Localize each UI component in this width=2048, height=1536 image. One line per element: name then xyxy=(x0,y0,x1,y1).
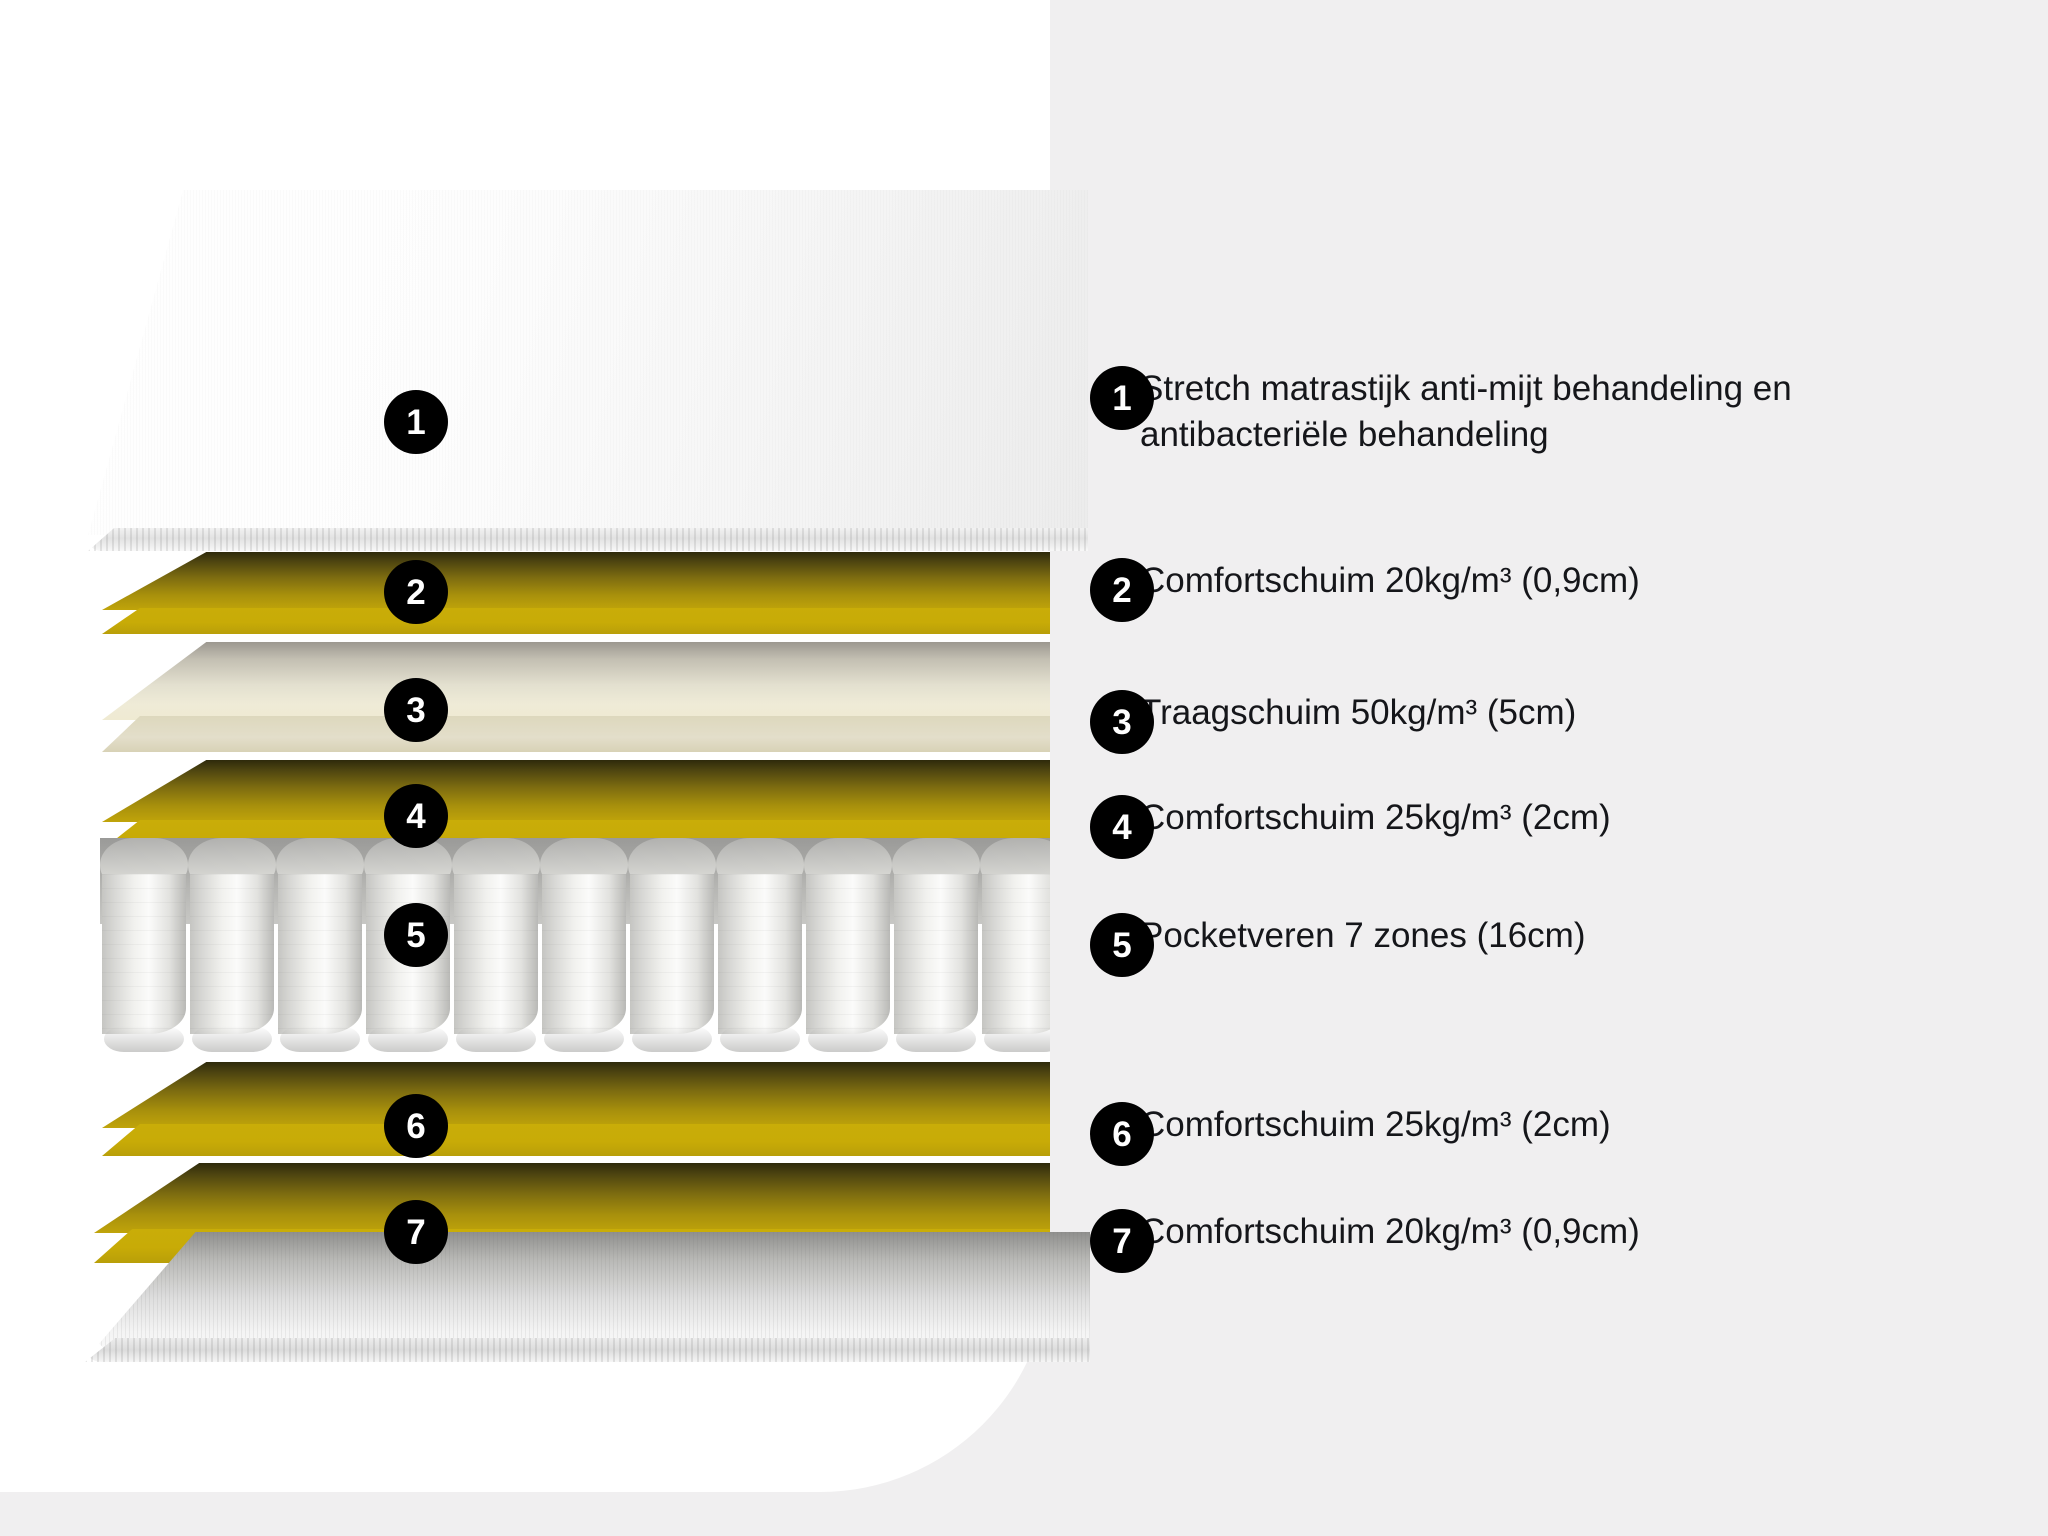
layer-6-top-surface xyxy=(102,1062,1050,1128)
layer-legend: 1 Stretch matrastijk anti-mijt behandeli… xyxy=(1090,0,1990,1536)
pocket-spring xyxy=(276,838,364,1070)
overlay-badge-2: 2 xyxy=(384,560,448,624)
mattress-base-piping xyxy=(85,1338,1090,1362)
legend-item-5[interactable]: 5 Pocketveren 7 zones (16cm) xyxy=(1090,913,1950,959)
layer-7-top-surface xyxy=(94,1163,1050,1233)
legend-item-3[interactable]: 3 Traagschuim 50kg/m³ (5cm) xyxy=(1090,690,1950,736)
pocket-spring xyxy=(188,838,276,1070)
legend-label-6: Comfortschuim 25kg/m³ (2cm) xyxy=(1140,1102,1611,1148)
pocket-spring-foot xyxy=(280,1026,360,1052)
pocket-spring-foot xyxy=(368,1026,448,1052)
mattress-layer-2-comfort-foam xyxy=(102,552,1050,632)
legend-badge-2: 2 xyxy=(1090,558,1154,622)
pocket-spring-foot xyxy=(192,1026,272,1052)
pocket-spring-body xyxy=(102,874,186,1034)
springs-front-row xyxy=(100,838,1050,1070)
mattress-layer-1-stretch-cover xyxy=(88,190,1088,535)
pocket-spring xyxy=(540,838,628,1070)
overlay-badge-6: 6 xyxy=(384,1094,448,1158)
legend-badge-3: 3 xyxy=(1090,690,1154,754)
pocket-spring-foot xyxy=(808,1026,888,1052)
legend-item-4[interactable]: 4 Comfortschuim 25kg/m³ (2cm) xyxy=(1090,795,1950,841)
legend-label-1: Stretch matrastijk anti-mijt behandeling… xyxy=(1140,366,1900,458)
pocket-spring-foot xyxy=(104,1026,184,1052)
pocket-spring-foot xyxy=(544,1026,624,1052)
pocket-spring xyxy=(804,838,892,1070)
legend-badge-4: 4 xyxy=(1090,795,1154,859)
overlay-badge-4: 4 xyxy=(384,784,448,848)
legend-badge-7: 7 xyxy=(1090,1209,1154,1273)
pocket-spring-foot xyxy=(984,1026,1050,1052)
legend-label-7: Comfortschuim 20kg/m³ (0,9cm) xyxy=(1140,1209,1640,1255)
legend-label-5: Pocketveren 7 zones (16cm) xyxy=(1140,913,1585,959)
legend-item-6[interactable]: 6 Comfortschuim 25kg/m³ (2cm) xyxy=(1090,1102,1950,1148)
mattress-layer-3-memory-foam xyxy=(102,642,1050,750)
pocket-spring-foot xyxy=(632,1026,712,1052)
pocket-spring xyxy=(452,838,540,1070)
pocket-spring-foot xyxy=(896,1026,976,1052)
pocket-spring xyxy=(100,838,188,1070)
mattress-layer-1-piping xyxy=(88,528,1088,551)
layer-2-front-face xyxy=(102,608,1050,634)
pocket-spring-body xyxy=(542,874,626,1034)
pocket-spring-body xyxy=(454,874,538,1034)
pocket-spring-foot xyxy=(456,1026,536,1052)
mattress-cutaway-illustration: 1 2 3 4 5 6 7 xyxy=(0,0,1050,1536)
legend-badge-5: 5 xyxy=(1090,913,1154,977)
pocket-spring-foot xyxy=(720,1026,800,1052)
pocket-spring-body xyxy=(278,874,362,1034)
overlay-badge-5: 5 xyxy=(384,903,448,967)
legend-label-4: Comfortschuim 25kg/m³ (2cm) xyxy=(1140,795,1611,841)
legend-badge-6: 6 xyxy=(1090,1102,1154,1166)
mattress-layer-4-comfort-foam xyxy=(102,760,1050,848)
layer-6-front-face xyxy=(102,1124,1050,1156)
pocket-spring xyxy=(628,838,716,1070)
pocket-spring-body xyxy=(718,874,802,1034)
pocket-spring-body xyxy=(190,874,274,1034)
legend-label-2: Comfortschuim 20kg/m³ (0,9cm) xyxy=(1140,558,1640,604)
legend-label-3: Traagschuim 50kg/m³ (5cm) xyxy=(1140,690,1576,736)
legend-item-1[interactable]: 1 Stretch matrastijk anti-mijt behandeli… xyxy=(1090,366,1950,458)
pocket-spring-body xyxy=(630,874,714,1034)
legend-item-7[interactable]: 7 Comfortschuim 20kg/m³ (0,9cm) xyxy=(1090,1209,1950,1255)
pocket-spring-body xyxy=(894,874,978,1034)
layer-4-top-surface xyxy=(102,760,1050,822)
layer-2-top-surface xyxy=(102,552,1050,610)
legend-item-2[interactable]: 2 Comfortschuim 20kg/m³ (0,9cm) xyxy=(1090,558,1950,604)
pocket-spring xyxy=(980,838,1050,1070)
pocket-spring xyxy=(892,838,980,1070)
mattress-layer-5-pocket-springs xyxy=(100,838,1050,1070)
layer-3-front-face xyxy=(102,716,1050,752)
overlay-badge-1: 1 xyxy=(384,390,448,454)
mattress-layer-6-comfort-foam xyxy=(102,1062,1050,1154)
layer-3-top-surface xyxy=(102,642,1050,720)
overlay-badge-7: 7 xyxy=(384,1200,448,1264)
pocket-spring-body xyxy=(982,874,1050,1034)
legend-badge-1: 1 xyxy=(1090,366,1154,430)
pocket-spring xyxy=(716,838,804,1070)
pocket-spring-body xyxy=(806,874,890,1034)
overlay-badge-3: 3 xyxy=(384,678,448,742)
